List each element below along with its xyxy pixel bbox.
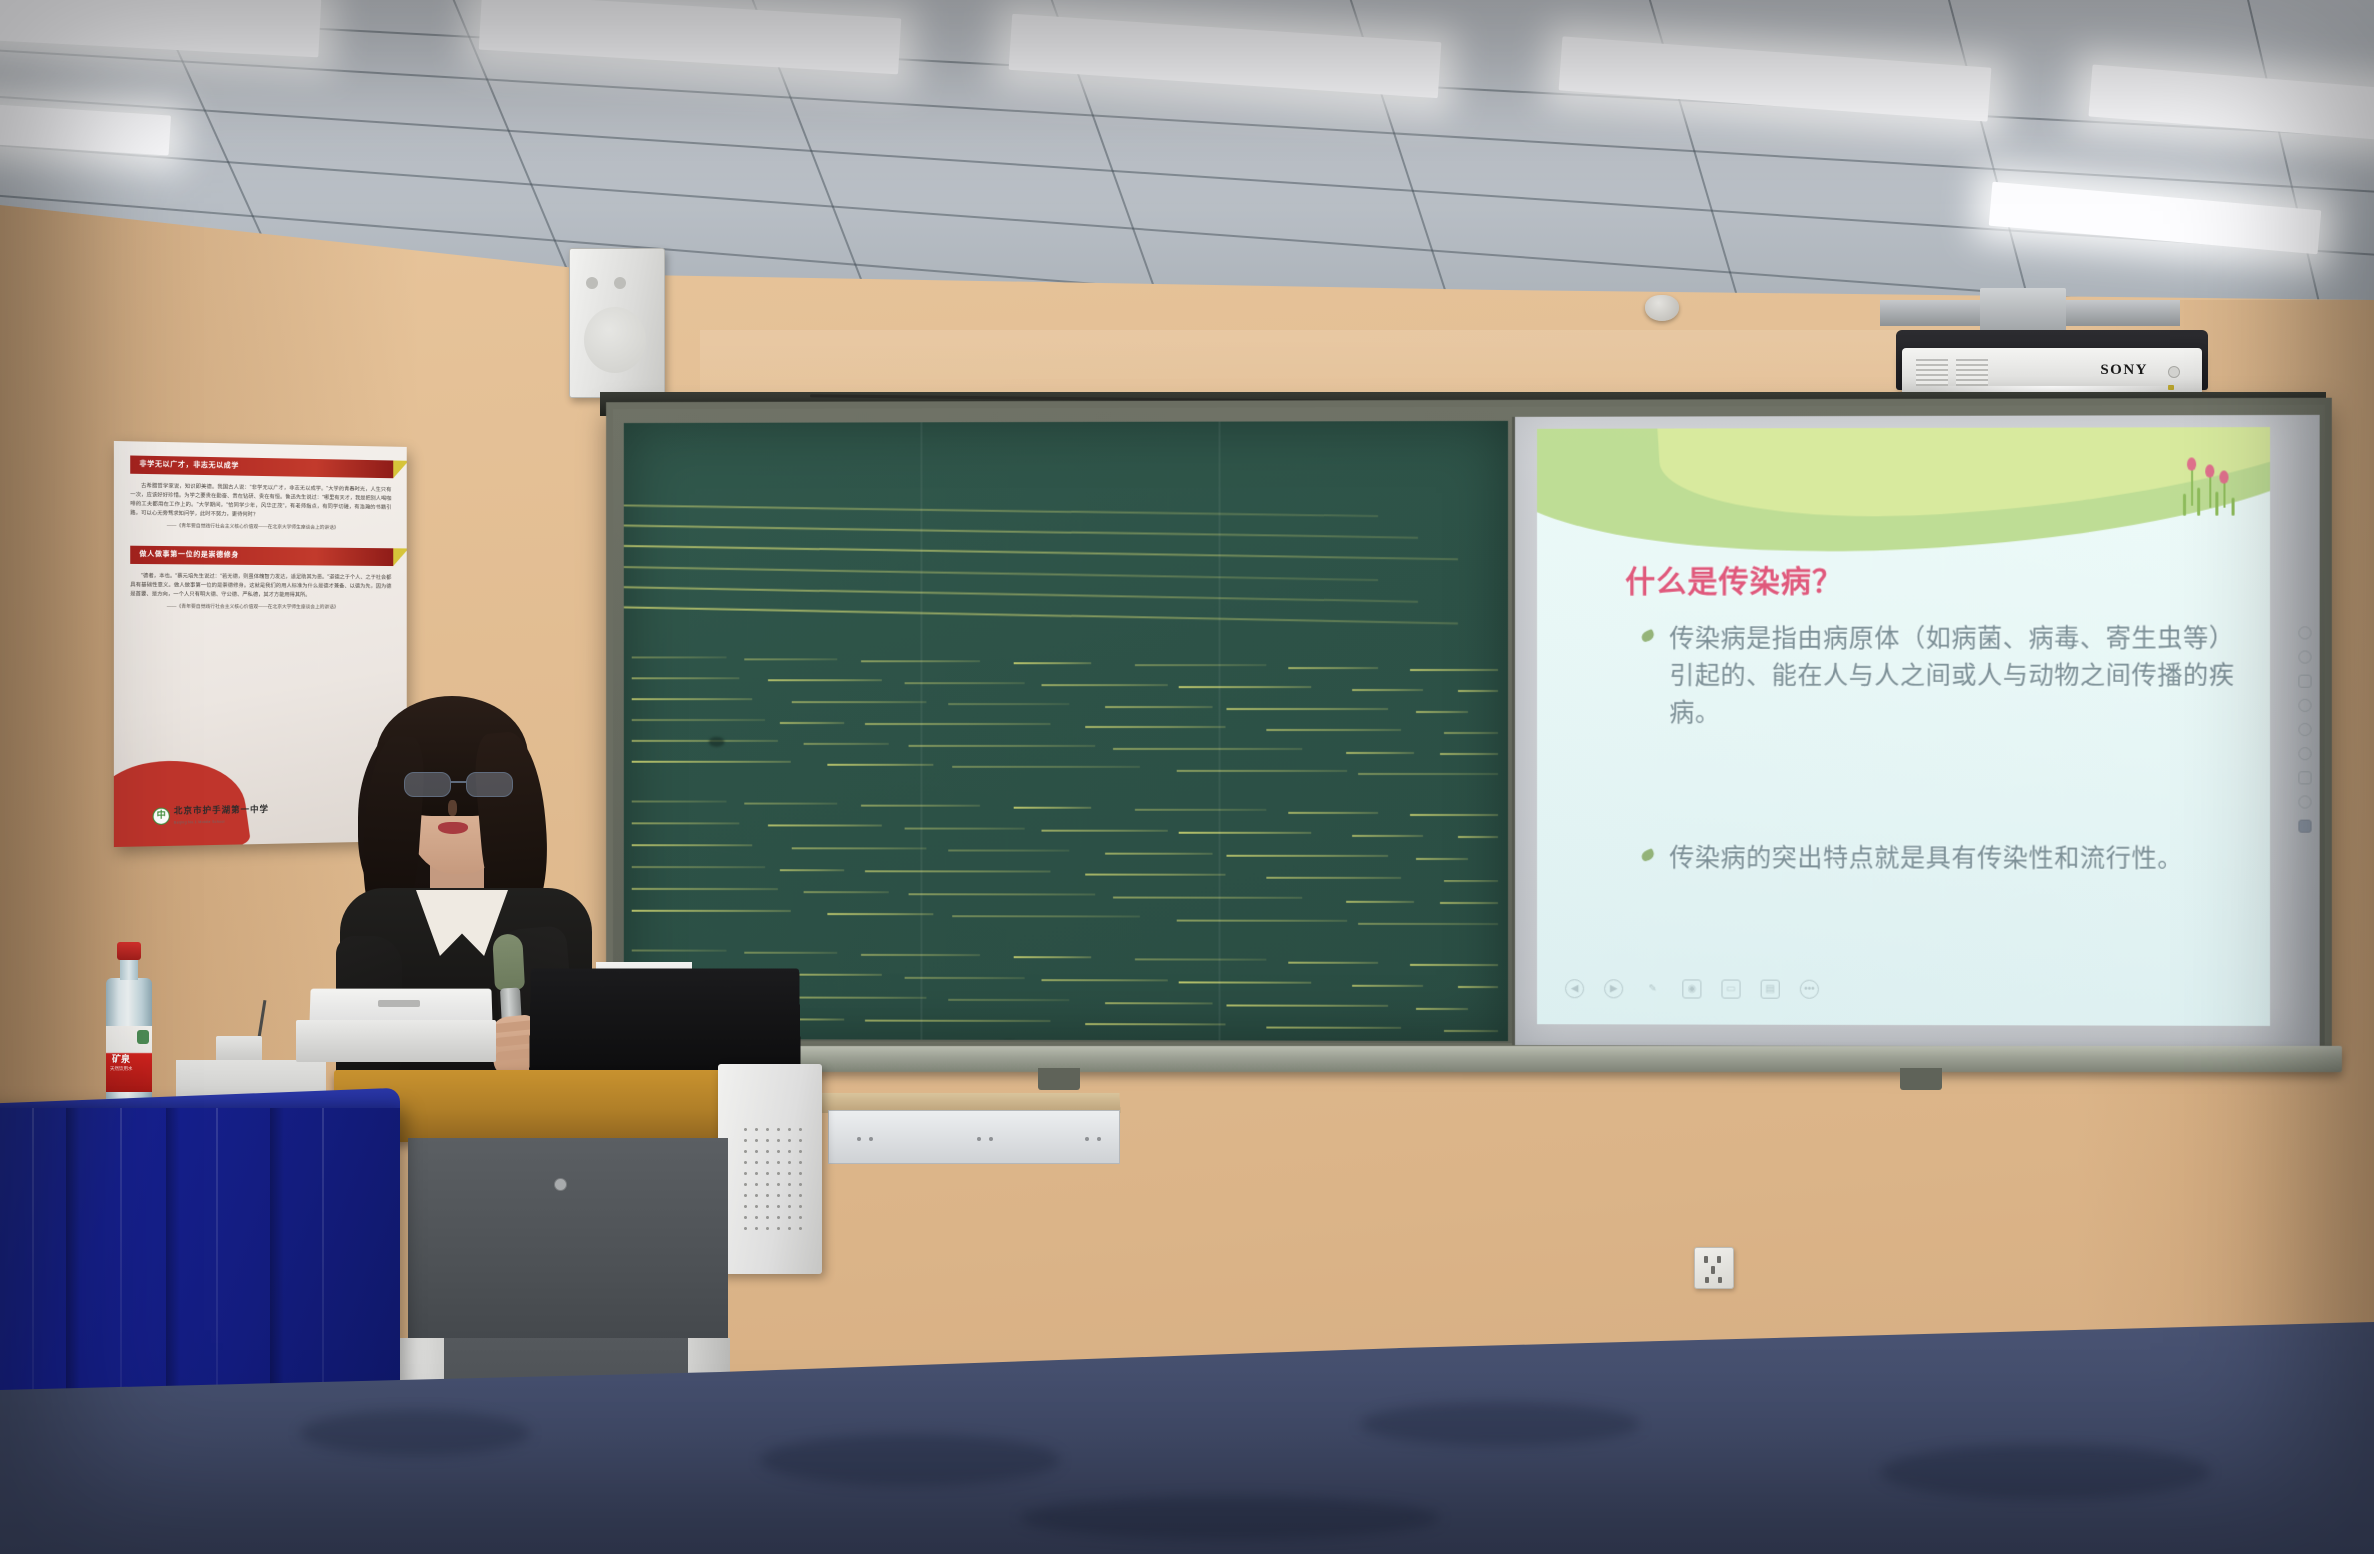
chalkboard-guide-line bbox=[905, 682, 1025, 684]
chalkboard-guide-line bbox=[1042, 979, 1168, 981]
chalkboard-guide-line bbox=[624, 586, 1418, 602]
chalkboard-guide-line bbox=[1179, 686, 1312, 688]
chalkboard-ruled-lines bbox=[624, 421, 1508, 423]
chalkboard-guide-line bbox=[1410, 964, 1498, 966]
chalkboard-guide-line bbox=[1085, 874, 1225, 876]
slide-title: 什么是传染病？ bbox=[1625, 556, 1843, 600]
chalkboard-guide-line bbox=[909, 893, 1096, 895]
chalkboard-guide-line bbox=[1135, 959, 1266, 961]
poster-body-2: "德者，本也。"蔡元培先生说过："若无德，则虽体魄智力发达，适足助其为恶。"道德… bbox=[130, 572, 391, 601]
podium-monitor[interactable] bbox=[529, 969, 801, 1072]
chalkboard-guide-line bbox=[768, 825, 882, 827]
chalkboard-guide-line bbox=[632, 801, 727, 803]
pen-icon[interactable]: ✎ bbox=[1643, 979, 1662, 998]
podium-lock-icon[interactable] bbox=[554, 1178, 567, 1191]
chalkboard-guide-line bbox=[905, 976, 1025, 978]
chalkboard-guide-line bbox=[1014, 662, 1091, 664]
chalkboard-guide-line bbox=[1135, 664, 1266, 666]
wall-power-outlet[interactable] bbox=[1694, 1247, 1734, 1289]
chalkboard-guide-line bbox=[948, 999, 1069, 1001]
leaf-bullet-icon bbox=[1640, 848, 1656, 862]
chalkboard-guide-line bbox=[632, 910, 791, 912]
chalkboard-guide-line bbox=[632, 888, 778, 890]
bottle-neck bbox=[120, 960, 138, 980]
school-emblem-icon: 中 bbox=[153, 807, 170, 824]
chalkboard-guide-line bbox=[632, 822, 740, 824]
slide-bullet-item: 传染病的突出特点就是具有传染性和流行性。 bbox=[1637, 840, 2241, 878]
speaker-cone bbox=[584, 307, 646, 373]
chalkboard-guide-line bbox=[632, 677, 740, 679]
smoke-detector bbox=[1645, 295, 1679, 321]
undo-tool-icon[interactable] bbox=[2298, 723, 2311, 736]
chalkboard-guide-line bbox=[865, 723, 1050, 725]
projector-vent-right bbox=[1956, 358, 1988, 386]
chalkboard[interactable] bbox=[624, 421, 1508, 1041]
chalkboard-guide-line bbox=[1416, 1008, 1468, 1010]
chalkboard-guide-line bbox=[632, 657, 727, 659]
chalkboard-guide-line bbox=[624, 566, 1378, 581]
tray-bracket bbox=[1038, 1068, 1080, 1090]
chalkboard-guide-line bbox=[1085, 726, 1225, 728]
chalkboard-guide-line bbox=[780, 869, 844, 871]
chalkboard-guide-line bbox=[632, 950, 727, 952]
projector-sensor-icon bbox=[2168, 366, 2180, 378]
chalkboard-guide-line bbox=[1179, 981, 1312, 983]
chalkboard-guide-line bbox=[1416, 711, 1468, 713]
previous-slide-icon[interactable]: ◀ bbox=[1565, 979, 1584, 998]
chalkboard-guide-line bbox=[792, 847, 927, 849]
chalkboard-guide-line bbox=[632, 740, 778, 742]
chalkboard-guide-line bbox=[827, 913, 933, 915]
chalkboard-guide-line bbox=[1352, 985, 1423, 987]
chalkboard-guide-line bbox=[1458, 836, 1498, 838]
chalkboard-guide-line bbox=[768, 680, 882, 682]
chalkboard-guide-line bbox=[1288, 812, 1378, 814]
chalkboard-panel-divider bbox=[920, 422, 922, 1039]
chalkboard-guide-line bbox=[632, 761, 791, 763]
chalkboard-guide-line bbox=[1226, 854, 1388, 856]
shape-tool-icon[interactable] bbox=[2298, 675, 2311, 688]
whiteboard-side-toolbar[interactable] bbox=[2298, 626, 2311, 832]
poster-body-1: 古希腊哲学家说，知识即美德。我国古人说："非学无以广才，非志无以成学。"大学的青… bbox=[130, 482, 391, 522]
chalkboard-guide-line bbox=[1444, 1030, 1498, 1032]
school-name-en: Beijing No.1 Middle School bbox=[174, 820, 225, 825]
chalkboard-guide-line bbox=[1226, 1004, 1388, 1006]
eraser-tool-icon[interactable] bbox=[2298, 650, 2311, 663]
chalkboard-guide-line bbox=[1085, 1024, 1225, 1026]
chalkboard-guide-line bbox=[1288, 667, 1378, 669]
chalkboard-guide-line bbox=[1266, 729, 1401, 731]
chalkboard-guide-line bbox=[632, 844, 752, 846]
chalkboard-guide-line bbox=[952, 766, 1140, 768]
chalk-smudge bbox=[709, 737, 725, 747]
projection-screen-panel[interactable]: 什么是传染病？ 传染病是指由病原体（如病菌、病毒、寄生虫等）引起的、能在人与人之… bbox=[1512, 415, 2320, 1047]
chalkboard-guide-line bbox=[624, 606, 1458, 624]
settings-tool-icon[interactable] bbox=[2298, 795, 2311, 808]
slide-bullet-text: 传染病的突出特点就是具有传染性和流行性。 bbox=[1669, 840, 2241, 878]
chalkboard-guide-line bbox=[624, 545, 1458, 560]
bottle-label: 矿泉 天然饮用水 bbox=[106, 1026, 152, 1092]
chalkboard-guide-line bbox=[792, 701, 927, 703]
chalkboard-guide-line bbox=[744, 802, 837, 804]
wall-ledge-cabinet bbox=[828, 1110, 1120, 1164]
chalkboard-guide-line bbox=[624, 525, 1418, 539]
podium-front-panel bbox=[408, 1138, 728, 1343]
chalkboard-guide-line bbox=[1226, 708, 1388, 710]
chalkboard-guide-line bbox=[804, 743, 889, 745]
school-logo: 中 北京市护手湖第一中学 Beijing No.1 Middle School bbox=[153, 802, 269, 828]
lens-right bbox=[466, 772, 513, 797]
chalkboard-guide-line bbox=[1266, 877, 1401, 879]
chalkboard-guide-line bbox=[624, 505, 1378, 518]
poster-heading-2: 做人做事第一位的是崇德修身 bbox=[130, 545, 393, 565]
ceiling-grid-runner bbox=[2240, 0, 2338, 330]
chalkboard-guide-line bbox=[1105, 1002, 1212, 1004]
projector-bracket bbox=[1980, 288, 2066, 334]
document-camera-clip bbox=[378, 1000, 420, 1007]
tray-bracket bbox=[1900, 1068, 1942, 1090]
bottle-label-brand: 矿泉 bbox=[112, 1052, 130, 1065]
poster-heading-1: 非学无以广才，非志无以成学 bbox=[130, 455, 393, 478]
chalkboard-guide-line bbox=[1352, 689, 1423, 691]
projector-vent-left bbox=[1916, 358, 1948, 386]
chalkboard-guide-line bbox=[1014, 956, 1091, 958]
chalkboard-guide-line bbox=[632, 866, 765, 868]
redo-tool-icon[interactable] bbox=[2298, 747, 2311, 760]
presentation-slide[interactable]: 什么是传染病？ 传染病是指由病原体（如病菌、病毒、寄生虫等）引起的、能在人与人之… bbox=[1537, 427, 2270, 1026]
bottle-label-badge bbox=[137, 1030, 149, 1044]
select-tool-icon[interactable] bbox=[2298, 699, 2311, 712]
chalkboard-guide-line bbox=[1440, 753, 1498, 755]
chalkboard-guide-line bbox=[1358, 773, 1498, 775]
chalkboard-guide-line bbox=[1105, 706, 1212, 708]
chalkboard-guide-line bbox=[865, 1019, 1050, 1021]
chalkboard-guide-line bbox=[1288, 961, 1378, 963]
chalkboard-guide-line bbox=[744, 952, 837, 954]
chalkboard-guide-line bbox=[1113, 896, 1302, 898]
chalkboard-guide-line bbox=[948, 703, 1069, 705]
whiteboard-tool-icon[interactable] bbox=[2298, 626, 2311, 639]
speaker-tweeter-right bbox=[614, 277, 626, 289]
poster-citation-1: ——《青年要自觉践行社会主义核心价值观——在北京大学师生座谈会上的讲话》 bbox=[167, 523, 392, 534]
chalkboard-guide-line bbox=[780, 722, 844, 724]
ceiling-projector: SONY bbox=[1896, 330, 2208, 390]
chalkboard-guide-line bbox=[1042, 684, 1168, 686]
video-icon[interactable]: ▭ bbox=[1721, 980, 1740, 999]
chalkboard-guide-line bbox=[1179, 832, 1312, 834]
slide-bullet-item: 传染病是指由病原体（如病菌、病毒、寄生虫等）引起的、能在人与人之间或人与动物之间… bbox=[1637, 620, 2241, 732]
chalkboard-guide-line bbox=[1458, 986, 1498, 988]
blackboard-assembly[interactable]: 什么是传染病？ 传染病是指由病原体（如病菌、病毒、寄生虫等）引起的、能在人与人之… bbox=[606, 398, 2332, 1053]
podium-speaker-panel bbox=[718, 1064, 822, 1274]
chalkboard-guide-line bbox=[1444, 880, 1498, 882]
slide-flower-decoration bbox=[2175, 455, 2246, 515]
bottle-label-sub: 天然饮用水 bbox=[110, 1066, 133, 1072]
next-slide-icon[interactable]: ▶ bbox=[1604, 979, 1623, 998]
leaf-bullet-icon bbox=[1640, 629, 1656, 643]
chalkboard-guide-line bbox=[952, 916, 1140, 918]
chalkboard-guide-line bbox=[1410, 814, 1498, 816]
poster-citation-2: ——《青年要自觉践行社会主义核心价值观——在北京大学师生座谈会上的讲话》 bbox=[167, 604, 392, 613]
document-camera bbox=[296, 1020, 496, 1062]
chalkboard-guide-line bbox=[827, 764, 933, 766]
slide-bullet-text: 传染病是指由病原体（如病菌、病毒、寄生虫等）引起的、能在人与人之间或人与动物之间… bbox=[1669, 620, 2241, 732]
chalkboard-guide-line bbox=[1458, 690, 1498, 692]
chalkboard-guide-line bbox=[1177, 919, 1347, 921]
chalkboard-panel-divider bbox=[1219, 422, 1221, 1041]
chalkboard-guide-line bbox=[1135, 809, 1266, 811]
chalk-tray bbox=[602, 1046, 2342, 1072]
chalkboard-guide-line bbox=[1177, 770, 1347, 772]
presenter-nose bbox=[448, 800, 457, 816]
more-options-icon[interactable]: ••• bbox=[1800, 980, 1819, 999]
chalkboard-guide-line bbox=[792, 996, 927, 998]
lens-left bbox=[404, 772, 451, 797]
chalkboard-guide-line bbox=[1346, 752, 1414, 754]
speaker-tweeter-left bbox=[586, 277, 598, 289]
chalkboard-guide-line bbox=[909, 745, 1096, 747]
chalkboard-guide-line bbox=[1440, 902, 1498, 904]
microphone-head bbox=[492, 933, 525, 990]
bottle-cap bbox=[117, 942, 141, 960]
classroom-scene: SONY bbox=[0, 0, 2374, 1554]
slide-playback-toolbar[interactable]: ◀ ▶ ✎ ◉ ▭ ▤ ••• bbox=[1565, 979, 1819, 999]
laser-pointer-icon[interactable]: ◉ bbox=[1682, 979, 1701, 998]
chalkboard-guide-line bbox=[1042, 829, 1168, 831]
wall-speaker bbox=[569, 248, 665, 398]
projector-brand-label: SONY bbox=[2100, 362, 2148, 379]
slide-body: 传染病是指由病原体（如病菌、病毒、寄生虫等）引起的、能在人与人之间或人与动物之间… bbox=[1637, 620, 2241, 890]
chalkboard-guide-line bbox=[1105, 852, 1212, 854]
glasses-bridge bbox=[451, 781, 467, 783]
chalk-smudge bbox=[998, 1040, 1020, 1041]
chalkboard-guide-line bbox=[1346, 900, 1414, 902]
presenter-lips bbox=[438, 822, 468, 834]
subtitles-icon[interactable]: ▤ bbox=[1761, 980, 1780, 999]
chalkboard-guide-line bbox=[1352, 835, 1423, 837]
chalkboard-guide-line bbox=[948, 850, 1069, 852]
chalkboard-guide-line bbox=[1358, 923, 1498, 925]
chalkboard-guide-line bbox=[905, 827, 1025, 829]
chalkboard-guide-line bbox=[865, 870, 1050, 872]
chalkboard-guide-line bbox=[804, 891, 889, 893]
chalkboard-guide-line bbox=[632, 719, 765, 721]
water-bottle: 矿泉 天然饮用水 bbox=[104, 942, 154, 1120]
chalkboard-guide-line bbox=[1266, 1027, 1401, 1029]
color-swatch-icon[interactable] bbox=[2298, 820, 2311, 833]
chalkboard-guide-line bbox=[804, 1040, 889, 1041]
eyeglasses-icon bbox=[404, 772, 518, 798]
chalkboard-guide-line bbox=[632, 698, 752, 700]
chalkboard-guide-line bbox=[1113, 748, 1302, 750]
podium-speaker-grille bbox=[740, 1124, 804, 1234]
capture-tool-icon[interactable] bbox=[2298, 771, 2311, 784]
chalkboard-guide-line bbox=[744, 658, 837, 660]
chalkboard-guide-line bbox=[1416, 858, 1468, 860]
school-name-cn: 北京市护手湖第一中学 bbox=[174, 804, 269, 816]
poster-red-decoration bbox=[114, 749, 251, 847]
chalkboard-guide-line bbox=[1014, 807, 1091, 809]
chalkboard-guide-line bbox=[1410, 669, 1498, 671]
chalkboard-guide-line bbox=[1444, 732, 1498, 734]
